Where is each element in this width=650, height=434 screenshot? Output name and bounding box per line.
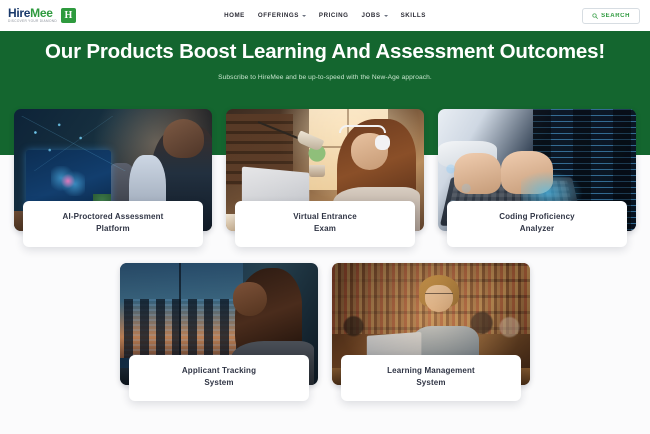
page-title: Our Products Boost Learning And Assessme… [0,39,650,65]
logo-tagline: Discover Your Diamond [8,20,57,23]
product-title-line-2: Exam [241,223,409,235]
window-frame-shape [179,263,181,358]
nav-item-offerings-label: OFFERINGS [258,12,299,19]
product-card-coding-proficiency-analyzer[interactable]: Coding Proficiency Analyzer [438,109,636,247]
product-title-line-2: System [347,377,515,389]
logo-text-mee: Mee [30,6,52,20]
nav-item-home-label: HOME [224,12,245,19]
nav-item-jobs-label: JOBS [362,12,381,19]
chevron-down-icon [302,15,306,17]
nav-item-home[interactable]: HOME [224,12,245,19]
product-row-2: Applicant Tracking System [0,263,650,401]
hero-subtitle: Subscribe to HireMee and be up-to-speed … [0,74,650,81]
product-title-line-1: Coding Proficiency [453,211,621,223]
nav-item-pricing-label: PRICING [319,12,349,19]
product-title-line-1: Learning Management [347,365,515,377]
chevron-down-icon [384,15,388,17]
logo-text-hire: Hire [8,6,30,20]
product-title-line-2: Analyzer [453,223,621,235]
product-title-line-1: Virtual Entrance [241,211,409,223]
product-card-title: Learning Management System [341,355,521,401]
logo-text: HireMee [8,7,57,19]
product-card-ai-proctored-assessment-platform[interactable]: AI-Proctored Assessment Platform [14,109,212,247]
logo-mark-icon: H [61,8,76,23]
person-face-shape [233,282,267,316]
nav-item-jobs[interactable]: JOBS [362,12,388,19]
search-button[interactable]: SEARCH [582,8,640,24]
headphones-cup-shape [375,135,391,151]
product-card-learning-management-system[interactable]: Learning Management System [332,263,530,401]
headphones-band-shape [339,125,387,134]
product-card-title: Coding Proficiency Analyzer [447,201,627,247]
nav-item-skills[interactable]: SKILLS [401,12,426,19]
site-header: HireMee Discover Your Diamond H HOME OFF… [0,0,650,31]
site-logo[interactable]: HireMee Discover Your Diamond H [8,7,76,23]
product-card-title: Virtual Entrance Exam [235,201,415,247]
product-grid: AI-Proctored Assessment Platform [0,109,650,401]
product-title-line-2: Platform [29,223,197,235]
nav-item-skills-label: SKILLS [401,12,426,19]
person-head-shape [163,119,205,158]
product-title-line-1: AI-Proctored Assessment [29,211,197,223]
product-card-title: Applicant Tracking System [129,355,309,401]
search-icon [592,13,598,19]
product-card-virtual-entrance-exam[interactable]: Virtual Entrance Exam [226,109,424,247]
product-card-title: AI-Proctored Assessment Platform [23,201,203,247]
logo-wordmark: HireMee Discover Your Diamond [8,7,57,23]
product-card-applicant-tracking-system[interactable]: Applicant Tracking System [120,263,318,401]
nav-item-pricing[interactable]: PRICING [319,12,349,19]
product-title-line-1: Applicant Tracking [135,365,303,377]
main-navigation: HOME OFFERINGS PRICING JOBS SKILLS [224,12,426,19]
search-button-label: SEARCH [601,13,630,19]
nav-item-offerings[interactable]: OFFERINGS [258,12,306,19]
product-title-line-2: System [135,377,303,389]
product-row-1: AI-Proctored Assessment Platform [0,109,650,247]
network-overlay-graphic [14,116,133,171]
plant-pot-shape [309,165,325,177]
